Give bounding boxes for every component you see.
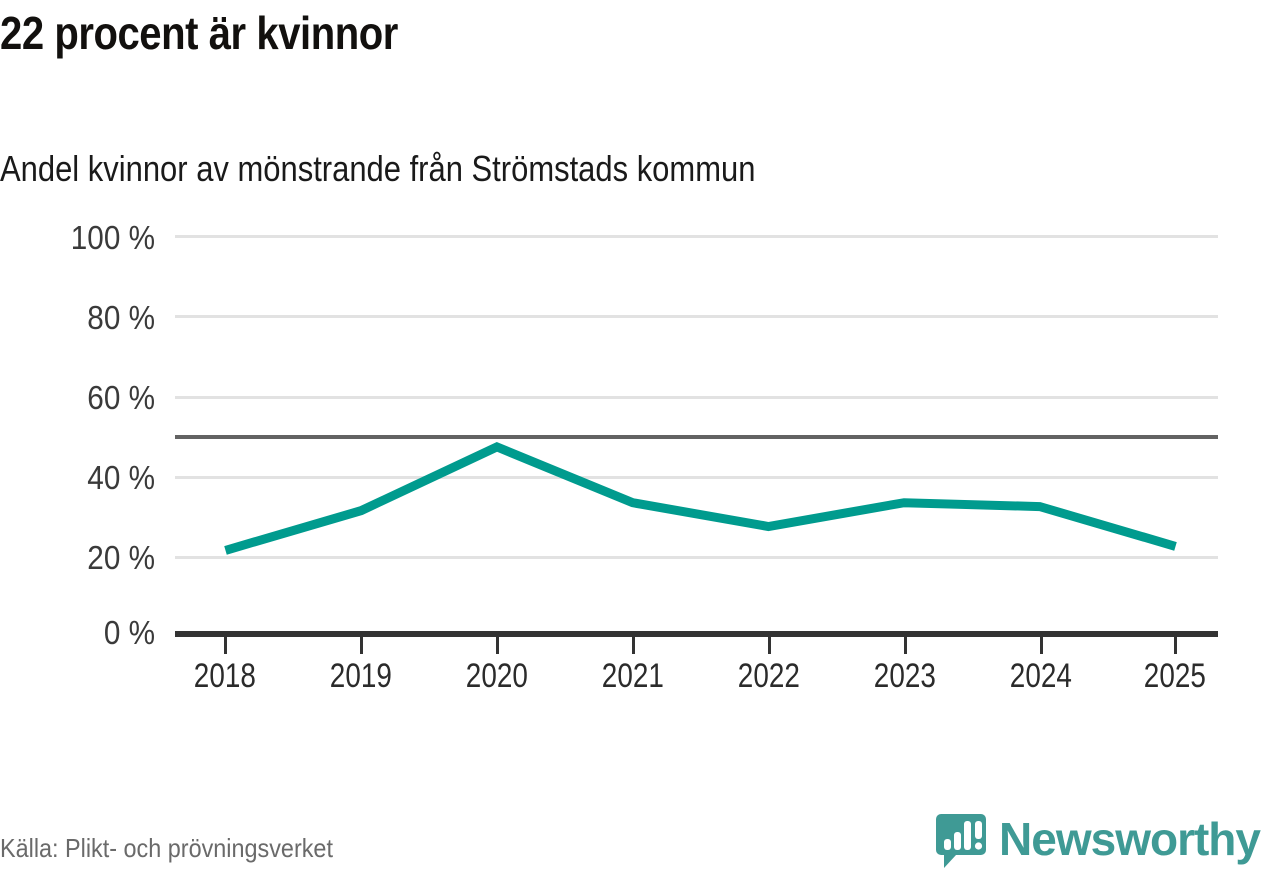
newsworthy-wordmark: Newsworthy [999,816,1260,862]
x-tick-2024 [1040,637,1043,654]
series-line-andel-kvinnor [0,0,1262,879]
x-tick-label-2023: 2023 [835,657,975,696]
x-tick-2025 [1174,637,1177,654]
x-tick-label-2018: 2018 [155,657,295,696]
x-tick-label-2025: 2025 [1105,657,1245,696]
x-tick-label-2022: 2022 [699,657,839,696]
newsworthy-logo[interactable]: Newsworthy [935,812,1260,870]
x-tick-label-2019: 2019 [291,657,431,696]
plot-area: 100 % 80 % 60 % 40 % 20 % 0 % 2018 2019 … [0,0,1262,879]
chart-page: 22 procent är kvinnor Andel kvinnor av m… [0,0,1262,879]
x-tick-2018 [224,637,227,654]
x-tick-label-2020: 2020 [427,657,567,696]
x-tick-2020 [496,637,499,654]
x-tick-2021 [632,637,635,654]
source-note: Källa: Plikt- och prövningsverket [0,833,333,864]
x-tick-label-2024: 2024 [971,657,1111,696]
bar-chart-speech-bubble-icon [935,812,989,870]
x-tick-label-2021: 2021 [563,657,703,696]
x-tick-2023 [904,637,907,654]
x-tick-2019 [360,637,363,654]
x-axis-line [175,631,1218,637]
x-tick-2022 [768,637,771,654]
